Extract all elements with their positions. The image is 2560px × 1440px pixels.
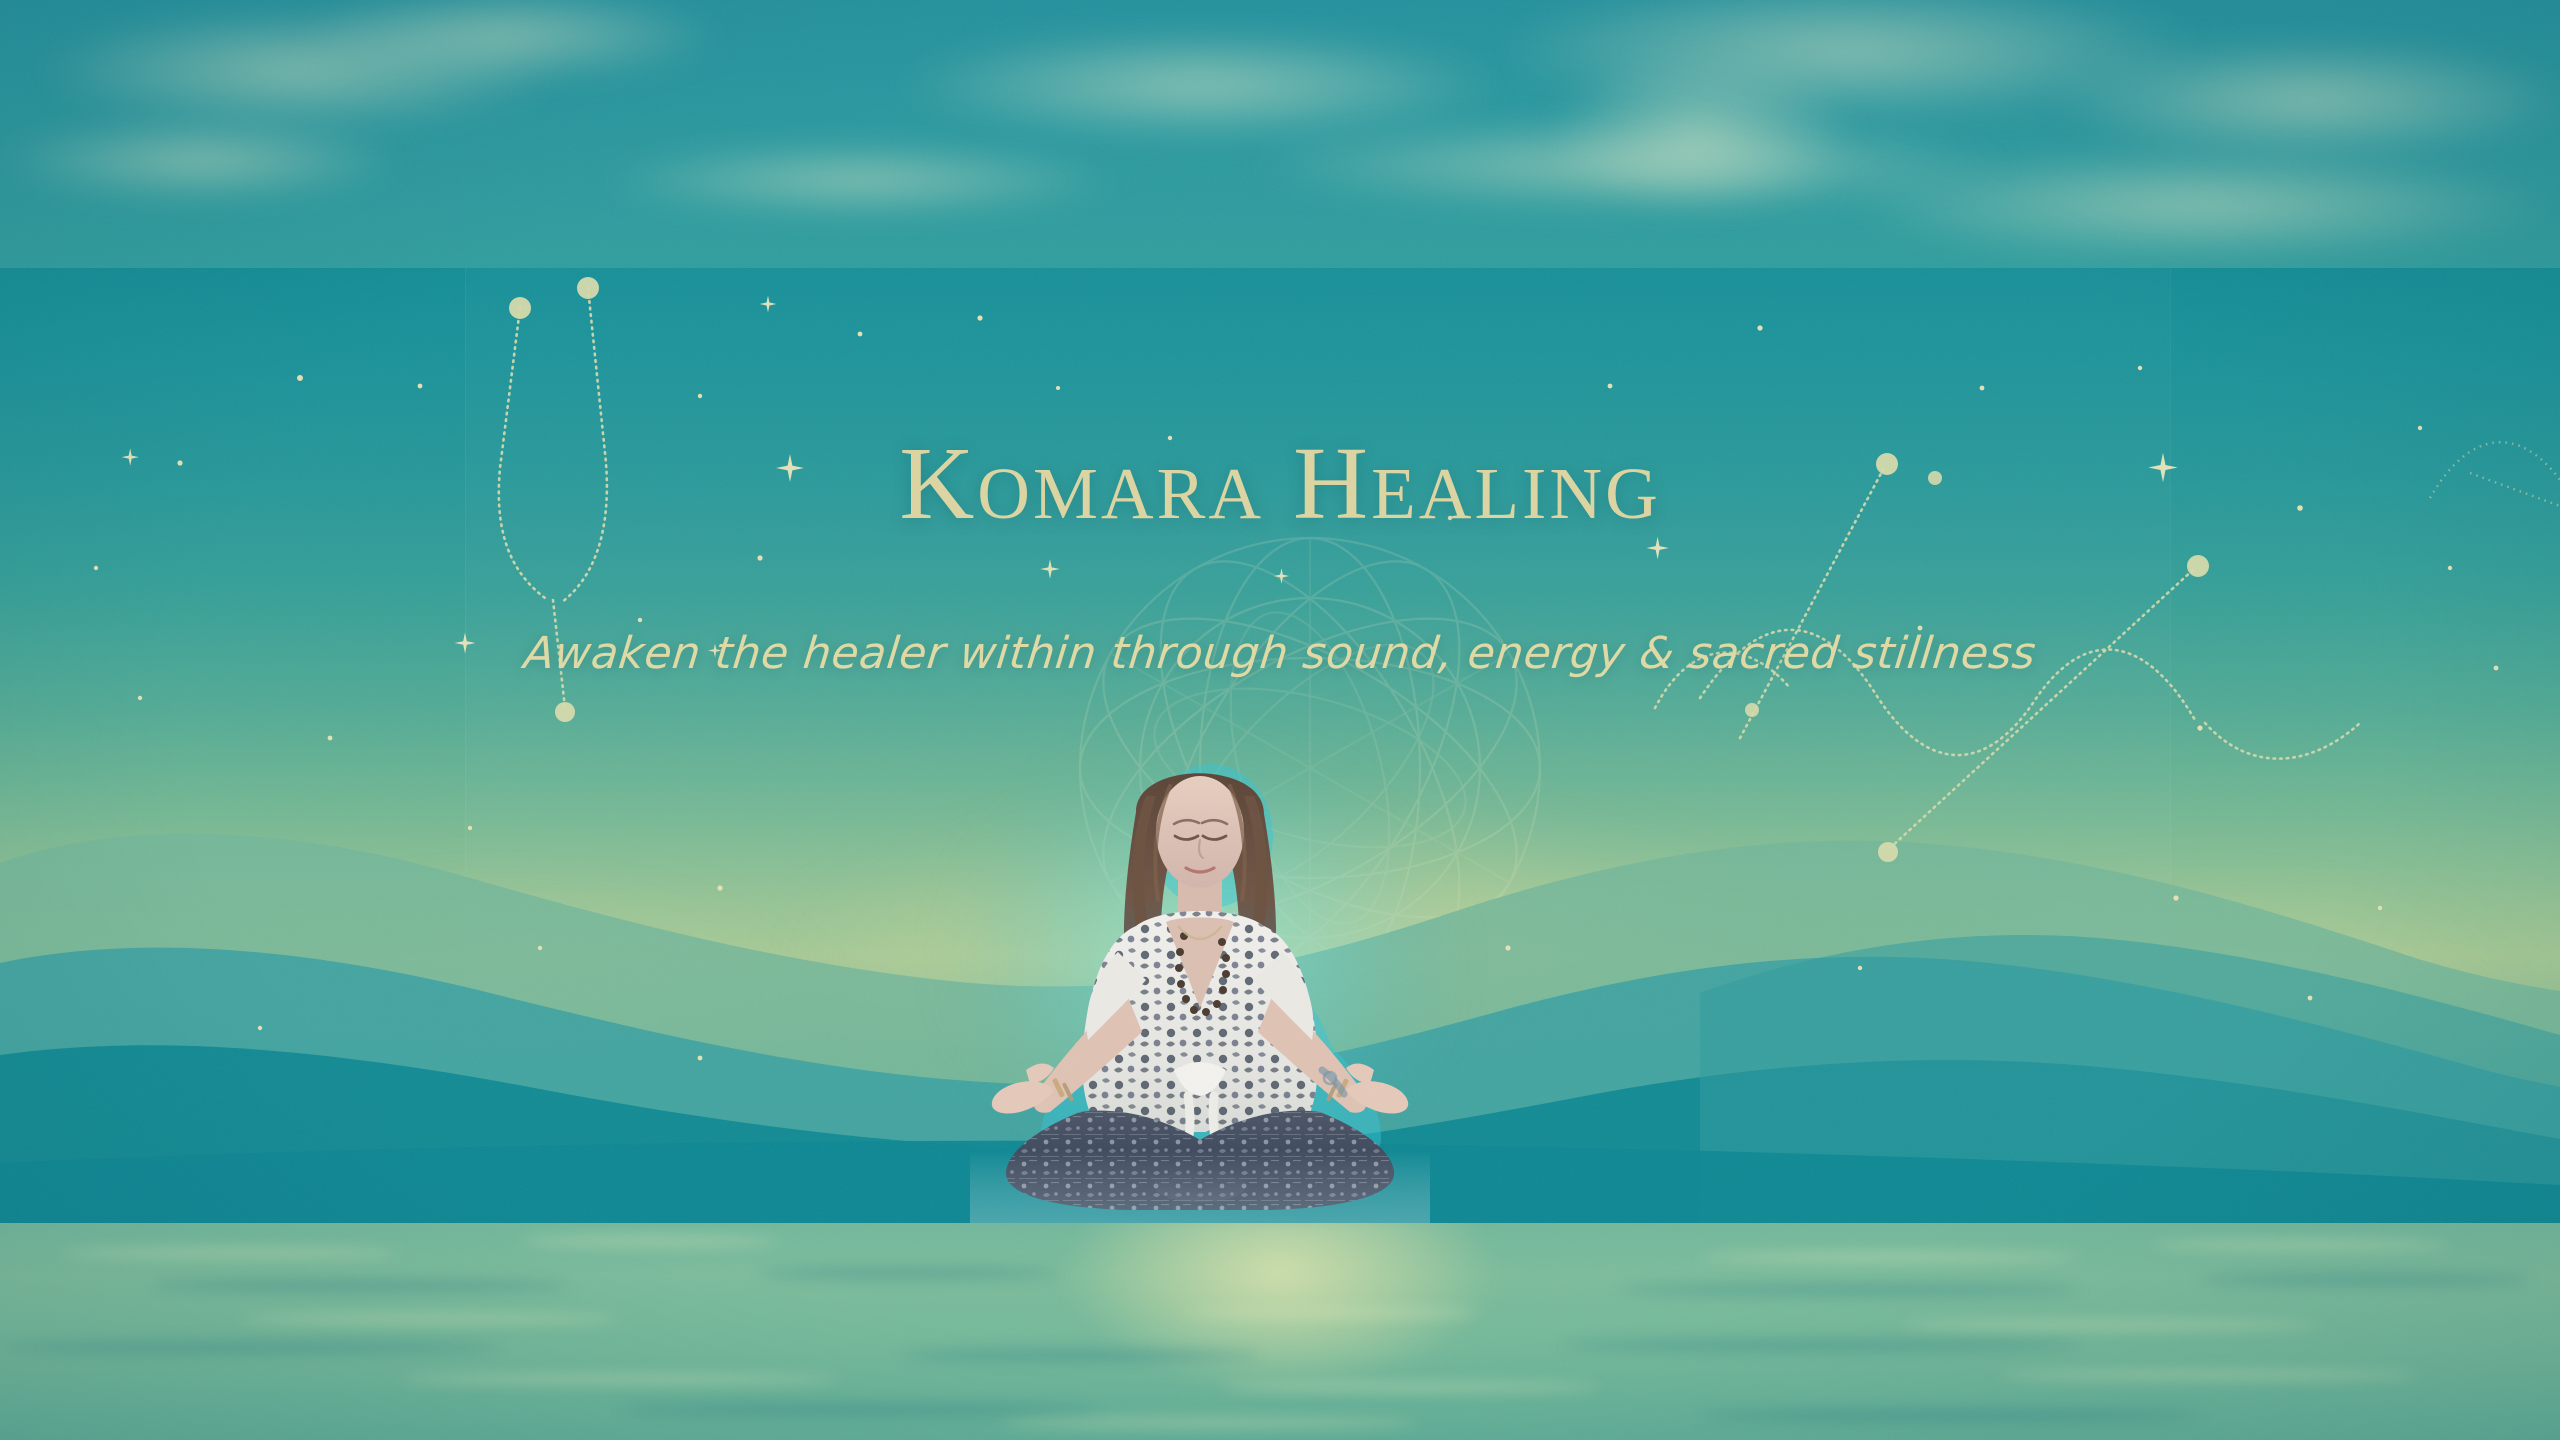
brand-tagline: Awaken the healer within through sound, … xyxy=(0,628,2560,679)
meditating-woman-illustration xyxy=(930,740,1470,1223)
hero-banner: Komara Healing Awaken the healer within … xyxy=(0,268,2560,1223)
brand-title-container: Komara Healing xyxy=(0,432,2560,536)
banner-page: Komara Healing Awaken the healer within … xyxy=(0,0,2560,1440)
tagline-container: Awaken the healer within through sound, … xyxy=(0,628,2560,679)
meditating-figure xyxy=(930,740,1470,1223)
brand-title: Komara Healing xyxy=(0,432,2560,536)
outer-water-background xyxy=(0,1222,2560,1440)
